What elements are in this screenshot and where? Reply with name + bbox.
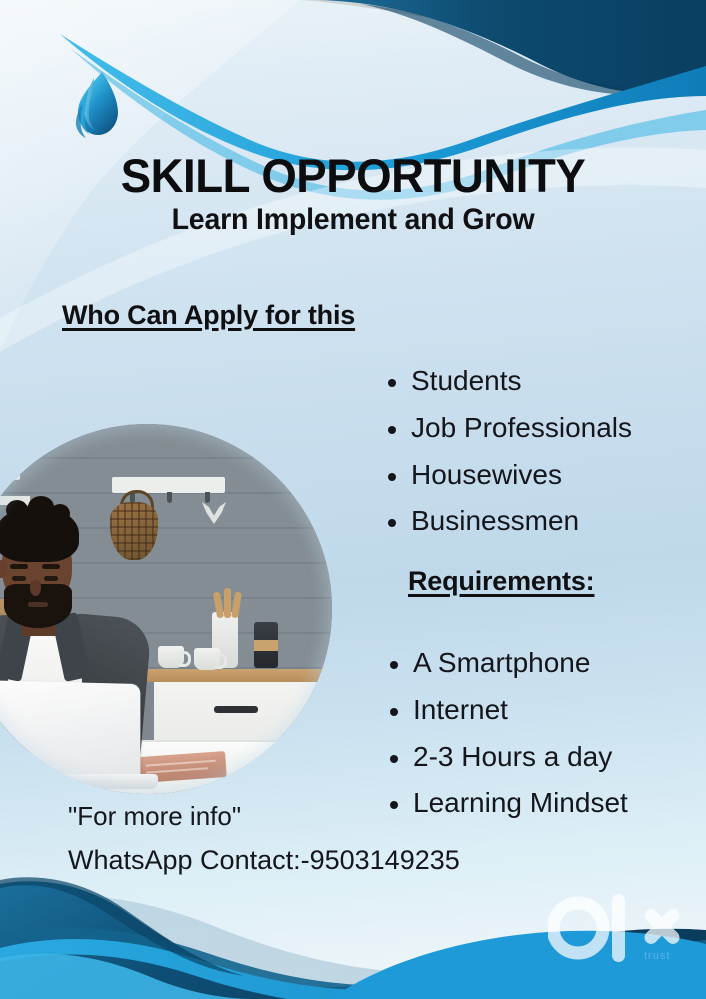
who-can-apply-list: Students Job Professionals Housewives Bu… (382, 358, 632, 545)
page-subtitle: Learn Implement and Grow (18, 203, 689, 237)
wave-grey-top (300, 0, 706, 23)
list-item: Learning Mindset (384, 780, 628, 827)
wave-navy-top (318, 0, 706, 94)
svg-text:trust: trust (644, 950, 670, 962)
list-item: 2-3 Hours a day (384, 734, 628, 781)
requirements-heading: Requirements: (408, 566, 594, 597)
brand-logo (68, 70, 124, 140)
poster-canvas: SKILL OPPORTUNITY Learn Implement and Gr… (0, 0, 706, 999)
list-item: Students (382, 358, 632, 405)
page-title: SKILL OPPORTUNITY (11, 148, 696, 203)
list-item: Job Professionals (382, 405, 632, 452)
wave-navy-top-tail (360, 4, 706, 95)
list-item: Internet (384, 687, 628, 734)
wave-sky-accent (0, 954, 262, 999)
more-info-text: "For more info" (68, 801, 241, 832)
list-item: A Smartphone (384, 640, 628, 687)
requirements-list: A Smartphone Internet 2-3 Hours a day Le… (384, 640, 628, 827)
list-item: Businessmen (382, 498, 632, 545)
whatsapp-contact-text: WhatsApp Contact:-9503149235 (68, 845, 460, 876)
water-droplet-flame-icon (68, 70, 124, 140)
list-item: Housewives (382, 452, 632, 499)
photo-man-with-laptop (0, 424, 332, 794)
wave-navy-highlight (0, 877, 244, 976)
wave-grey-top-2 (420, 2, 706, 48)
who-can-apply-heading: Who Can Apply for this (62, 300, 355, 331)
olx-watermark: trust (548, 888, 688, 968)
